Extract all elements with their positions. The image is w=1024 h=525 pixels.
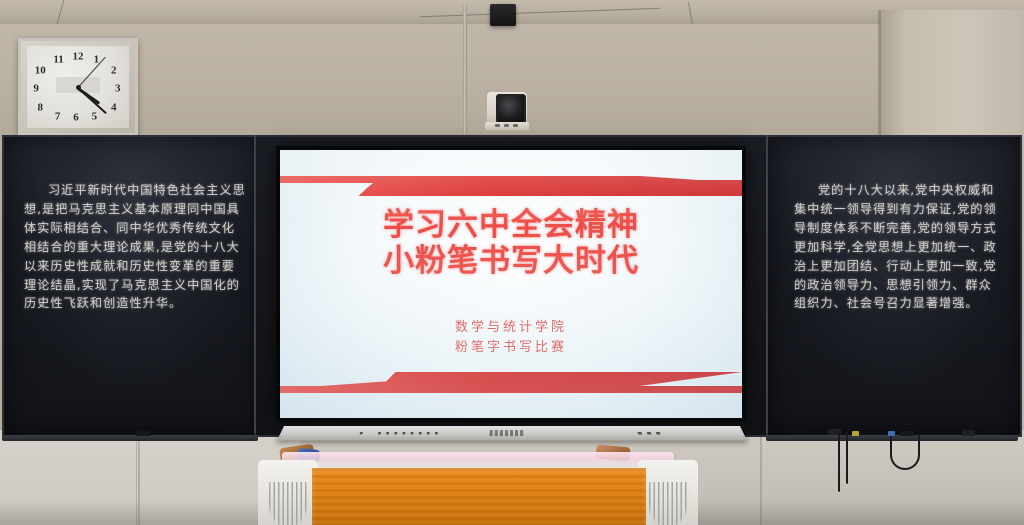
slide-subtitle-line2: 粉笔字书写比赛 <box>280 338 742 358</box>
power-button[interactable] <box>359 432 363 435</box>
camera-led <box>504 124 509 127</box>
signal-cable <box>846 432 848 484</box>
clock-numeral-2: 2 <box>111 65 117 76</box>
left-chalkboard-text: 习近平新时代中国特色社会主义思想,是把马克思主义基本原理同中国具体实际相结合、同… <box>24 181 246 313</box>
presentation-slide[interactable]: 学习六中全会精神 小粉笔书写大时代 数学与统计学院 粉笔字书写比赛 <box>280 150 742 418</box>
clock-center-pin <box>76 85 81 90</box>
board-bracket <box>136 431 150 436</box>
lectern-left-speaker <box>258 460 318 525</box>
clock-numeral-10: 10 <box>35 65 46 76</box>
board-seam <box>254 135 256 433</box>
volume-up-button[interactable] <box>394 432 398 435</box>
clock-numeral-5: 5 <box>92 111 98 122</box>
ptz-camera <box>485 84 529 130</box>
camera-led <box>513 124 518 127</box>
camera-body <box>487 92 527 124</box>
source-button[interactable] <box>386 432 390 435</box>
wood-grain-texture <box>312 468 646 525</box>
left-chalkboard: 习近平新时代中国特色社会主义思想,是把马克思主义基本原理同中国具体实际相结合、同… <box>2 135 262 437</box>
display-bezel[interactable] <box>277 426 747 441</box>
clock-numeral-11: 11 <box>53 54 63 65</box>
clock-numeral-9: 9 <box>33 83 39 94</box>
led-display[interactable]: 学习六中全会精神 小粉笔书写大时代 数学与统计学院 粉笔字书写比赛 <box>276 146 746 422</box>
clock-numeral-6: 6 <box>73 113 79 124</box>
clock-numeral-4: 4 <box>111 103 117 114</box>
cable-bracket <box>962 430 975 436</box>
clock-numeral-12: 12 <box>73 52 84 63</box>
menu-button[interactable] <box>378 432 382 435</box>
back-button[interactable] <box>435 432 438 435</box>
speaker-grille-icon <box>646 482 690 525</box>
wall-clock: 12 1 2 3 4 5 6 7 8 9 10 11 <box>18 38 138 136</box>
clock-numeral-7: 7 <box>55 111 61 122</box>
slide-title-line1: 学习六中全会精神 <box>280 208 742 244</box>
power-cable <box>838 432 840 492</box>
slide-title-line2: 小粉笔书写大时代 <box>280 244 742 280</box>
clock-numeral-3: 3 <box>115 83 121 94</box>
slide-title: 学习六中全会精神 小粉笔书写大时代 <box>280 208 742 280</box>
lectern-glass-top[interactable] <box>282 452 674 468</box>
slide-subtitle-line1: 数学与统计学院 <box>280 318 742 338</box>
lectern[interactable] <box>258 452 698 525</box>
cable-loop <box>890 434 920 470</box>
ceiling-rod <box>463 6 467 134</box>
camera-lens-icon <box>496 94 526 124</box>
cable-plug <box>888 431 895 436</box>
lectern-front-panel <box>312 468 646 525</box>
ceiling-speaker-box <box>490 4 516 26</box>
slide-subtitle: 数学与统计学院 粉笔字书写比赛 <box>280 318 742 357</box>
lectern-right-speaker <box>638 460 698 525</box>
clock-face: 12 1 2 3 4 5 6 7 8 9 10 11 <box>27 46 129 128</box>
board-seam <box>766 135 768 433</box>
volume-down-button[interactable] <box>402 432 406 435</box>
home-button[interactable] <box>427 432 430 435</box>
channel-up-button[interactable] <box>410 432 414 435</box>
chalk-tray <box>2 435 258 441</box>
brand-logo <box>490 430 525 436</box>
right-chalkboard-text: 党的十八大以来,党中央权威和集中统一领导得到有力保证,党的领导制度体系不断完善,… <box>794 181 1000 313</box>
classroom-scene: 12 1 2 3 4 5 6 7 8 9 10 11 <box>0 0 1024 525</box>
clock-numeral-8: 8 <box>38 103 44 114</box>
right-chalkboard: 党的十八大以来,党中央权威和集中统一领导得到有力保证,党的领导制度体系不断完善,… <box>766 135 1022 437</box>
channel-down-button[interactable] <box>418 432 422 435</box>
cable-plug <box>852 431 859 436</box>
speaker-grille-icon <box>266 482 310 525</box>
slide-band-bottom-thin <box>280 386 742 393</box>
indicator-leds <box>638 432 663 435</box>
camera-led <box>495 124 500 127</box>
